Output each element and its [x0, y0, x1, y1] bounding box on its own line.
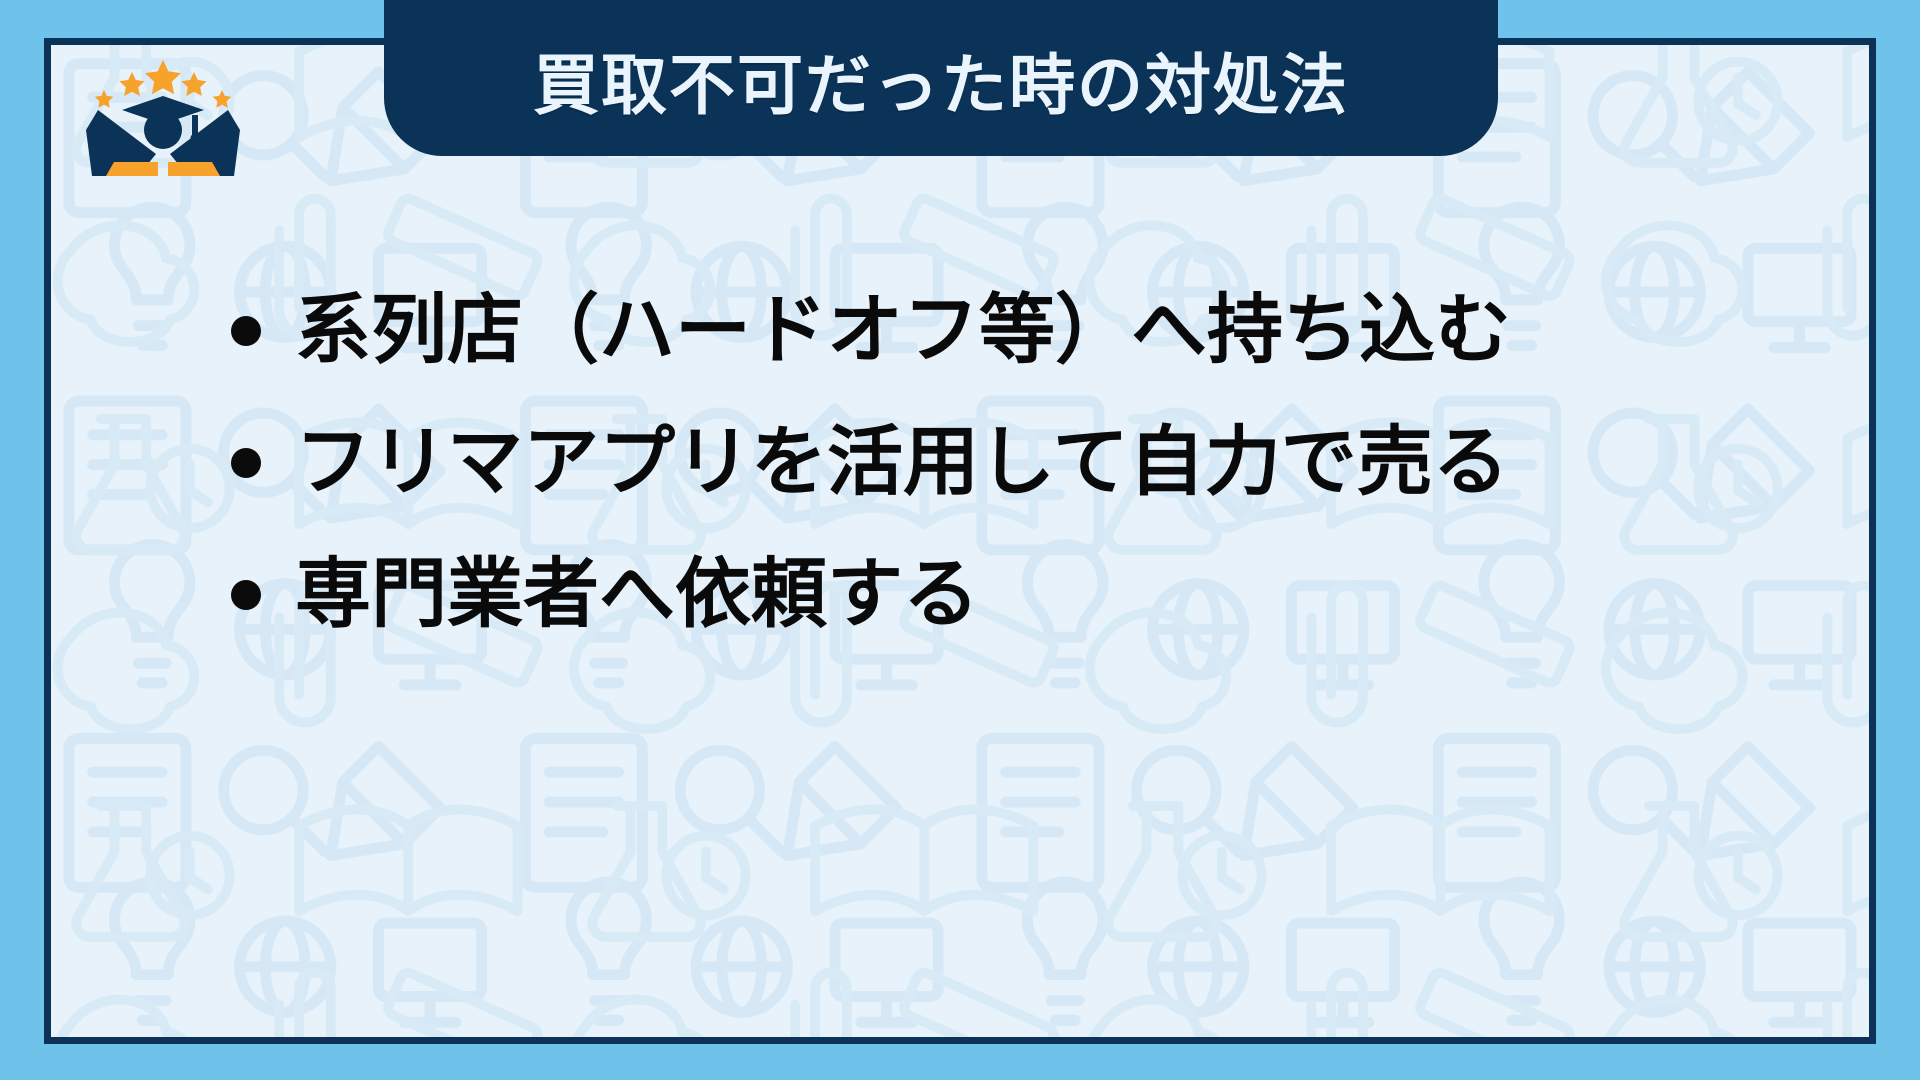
bullet-item-label: 系列店（ハードオフ等）へ持ち込む	[295, 277, 1511, 385]
list-item: 専門業者へ依頼する	[231, 541, 1829, 649]
bullet-item-label: 専門業者へ依頼する	[295, 541, 979, 649]
bullet-dot-icon	[231, 580, 261, 610]
bullet-dot-icon	[231, 316, 261, 346]
content-card: 系列店（ハードオフ等）へ持ち込む フリマアプリを活用して自力で売る 専門業者へ依…	[44, 38, 1876, 1044]
title-ribbon: 買取不可だった時の対処法	[384, 0, 1498, 156]
bullet-list: 系列店（ハードオフ等）へ持ち込む フリマアプリを活用して自力で売る 専門業者へ依…	[231, 277, 1829, 673]
list-item: フリマアプリを活用して自力で売る	[231, 409, 1829, 517]
brand-logo	[78, 58, 248, 176]
slide-root: 系列店（ハードオフ等）へ持ち込む フリマアプリを活用して自力で売る 専門業者へ依…	[0, 0, 1920, 1080]
page-title: 買取不可だった時の対処法	[533, 52, 1349, 118]
book-pages	[106, 162, 220, 176]
bullet-item-label: フリマアプリを活用して自力で売る	[295, 409, 1509, 517]
list-item: 系列店（ハードオフ等）へ持ち込む	[231, 277, 1829, 385]
bullet-dot-icon	[231, 448, 261, 478]
